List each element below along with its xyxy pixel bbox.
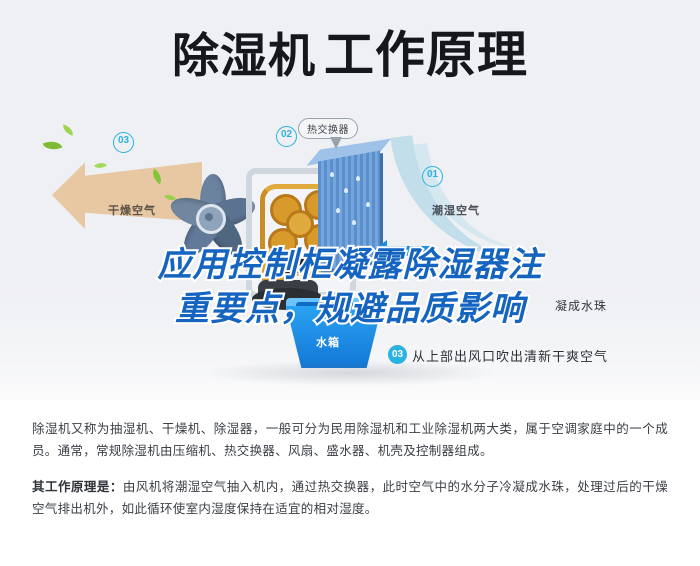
step-badge-01: 01 xyxy=(422,166,443,187)
step-badge-03-secondary: 03 xyxy=(388,345,407,364)
infographic-hero: 除湿机工作原理 干燥空气 xyxy=(0,0,700,400)
water-droplet-icon xyxy=(366,202,370,207)
leaf-icon xyxy=(61,124,75,135)
water-droplet-icon xyxy=(352,220,356,225)
step-badge-03: 03 xyxy=(113,132,134,153)
coil-loop xyxy=(286,210,314,238)
article-body: 除湿机又称为抽湿机、干燥机、除湿器，一般可分为民用除湿机和工业除湿机两大类，属于… xyxy=(0,400,700,566)
paragraph-1: 除湿机又称为抽湿机、干燥机、除湿器，一般可分为民用除湿机和工业除湿机两大类，属于… xyxy=(32,418,668,462)
page-title: 除湿机工作原理 xyxy=(0,30,700,80)
step-3-note: 从上部出风口吹出清新干爽空气 xyxy=(412,346,608,365)
water-droplet-icon xyxy=(330,172,334,177)
water-tank-label: 水箱 xyxy=(316,334,340,350)
humid-air-label: 潮湿空气 xyxy=(432,202,480,218)
water-droplet-icon xyxy=(356,176,360,181)
paragraph-2-rest: 由风机将潮湿空气抽入机内，通过热交换器，此时空气中的水分子冷凝成水珠，处理过后的… xyxy=(32,480,668,516)
paragraph-2-lead: 其工作原理是： xyxy=(32,480,123,494)
leaf-icon xyxy=(94,160,107,172)
overlay-headline: 应用控制柜凝露除湿器注 重要点，规避品质影响 xyxy=(0,243,700,331)
step-badge-02: 02 xyxy=(276,126,297,147)
heat-exchanger-callout: 热交换器 xyxy=(298,118,358,139)
fan-hub xyxy=(196,204,226,234)
water-droplet-icon xyxy=(344,188,348,193)
callout-tail-icon xyxy=(330,137,342,149)
water-droplet-icon xyxy=(336,208,340,213)
page-title-part2: 工作原理 xyxy=(324,27,528,83)
page-title-part1: 除湿机 xyxy=(172,29,316,82)
paragraph-2: 其工作原理是：由风机将潮湿空气抽入机内，通过热交换器，此时空气中的水分子冷凝成水… xyxy=(32,476,668,520)
article-page: 除湿机工作原理 干燥空气 xyxy=(0,0,700,566)
leaf-icon xyxy=(43,137,63,154)
dry-air-label: 干燥空气 xyxy=(108,202,156,218)
